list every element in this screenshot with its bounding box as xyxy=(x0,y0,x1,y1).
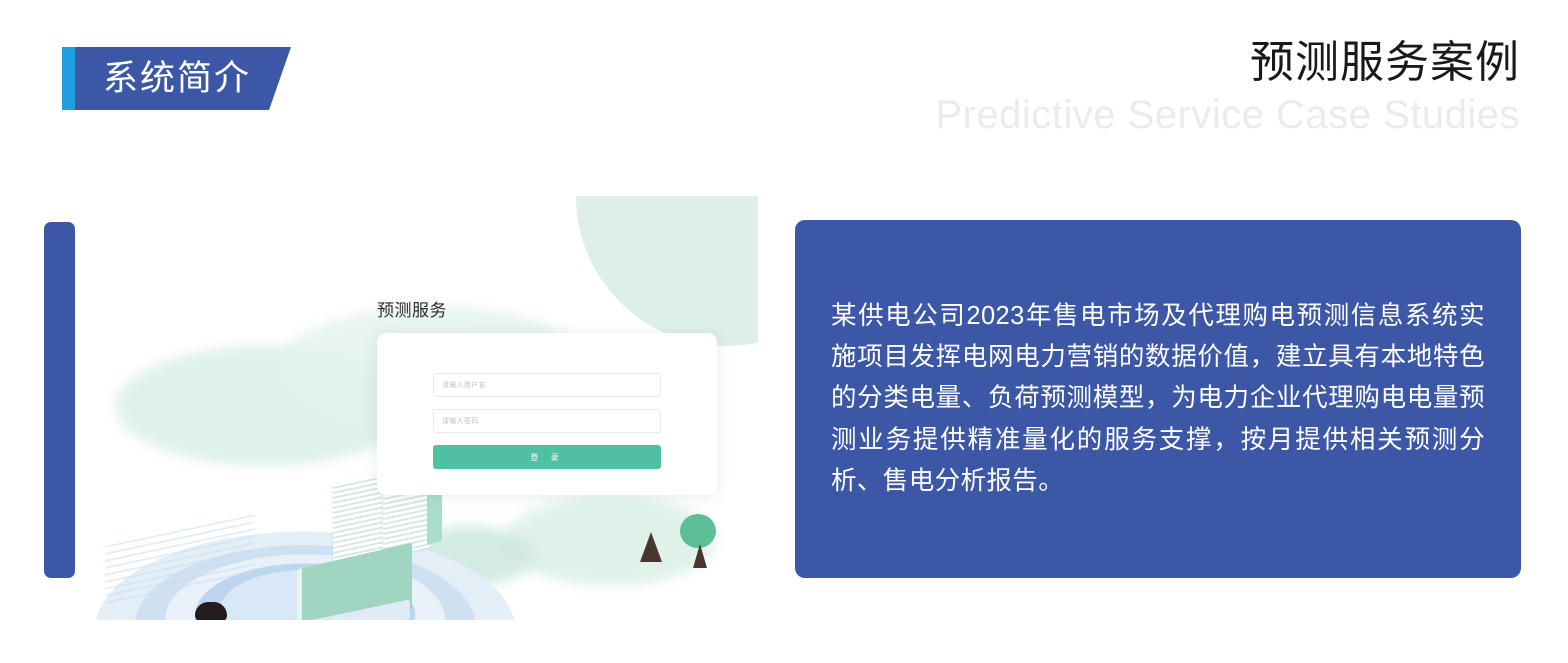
password-placeholder: 请输入密码 xyxy=(442,416,479,426)
page-subtitle: Predictive Service Case Studies xyxy=(935,91,1520,139)
login-submit-button[interactable]: 登 录 xyxy=(433,445,661,469)
screenshot-canvas: 预测服务 请输入用户名 请输入密码 登 录 xyxy=(75,196,758,620)
person-hair xyxy=(195,602,227,620)
tree-icon xyxy=(693,544,707,568)
username-input[interactable]: 请输入用户名 xyxy=(433,373,661,397)
tree-icon xyxy=(680,514,716,548)
section-tab-accent-bar xyxy=(62,47,76,110)
section-tab: 系统简介 xyxy=(62,47,291,110)
product-screenshot: 预测服务 请输入用户名 请输入密码 登 录 xyxy=(44,196,758,620)
password-input[interactable]: 请输入密码 xyxy=(433,409,661,433)
username-placeholder: 请输入用户名 xyxy=(442,380,486,390)
slide-root: 系统简介 预测服务案例 Predictive Service Case Stud… xyxy=(0,0,1568,663)
tree-icon xyxy=(640,532,662,562)
login-card: 请输入用户名 请输入密码 登 录 xyxy=(377,333,717,495)
login-panel: 预测服务 请输入用户名 请输入密码 登 录 xyxy=(377,296,717,495)
screenshot-sidebar-rail xyxy=(44,222,75,578)
description-panel: 某供电公司2023年售电市场及代理购电预测信息系统实施项目发挥电网电力营销的数据… xyxy=(795,220,1521,578)
page-title-block: 预测服务案例 Predictive Service Case Studies xyxy=(935,38,1520,139)
login-app-title: 预测服务 xyxy=(377,296,717,321)
page-title: 预测服务案例 xyxy=(935,38,1520,89)
description-text: 某供电公司2023年售电市场及代理购电预测信息系统实施项目发挥电网电力营销的数据… xyxy=(831,296,1485,502)
section-tab-label: 系统简介 xyxy=(103,61,251,96)
section-tab-body: 系统简介 xyxy=(75,47,291,110)
